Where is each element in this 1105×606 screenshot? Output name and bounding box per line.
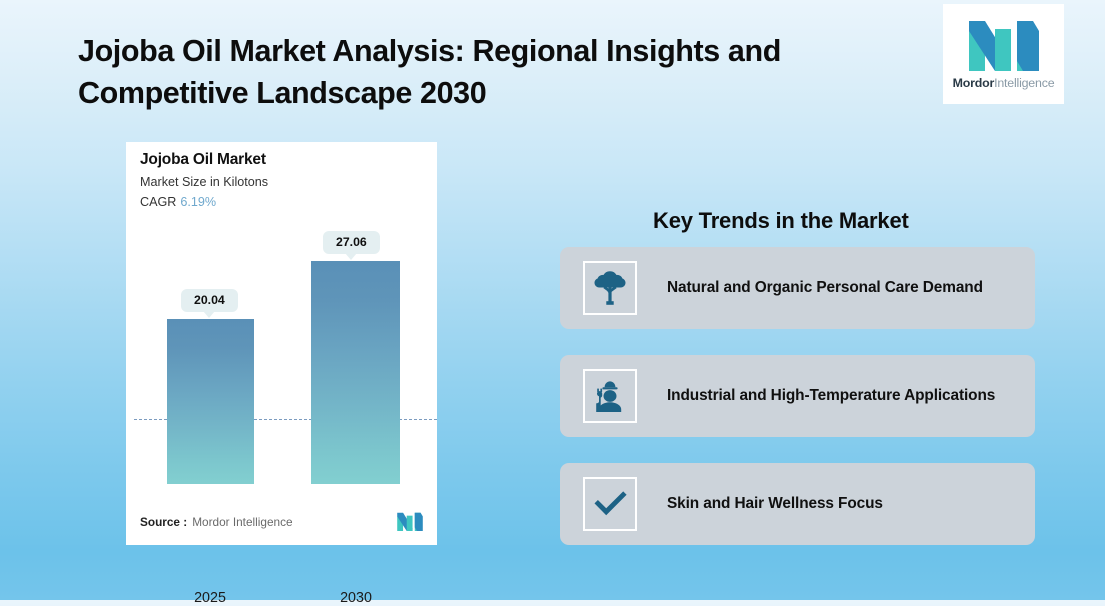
worker-hardhat-icon xyxy=(583,369,637,423)
brand-name-bold: Mordor xyxy=(953,76,994,90)
trend-label-0: Natural and Organic Personal Care Demand xyxy=(667,277,983,299)
page-title: Jojoba Oil Market Analysis: Regional Ins… xyxy=(78,30,908,114)
x-axis-tick-2030: 2030 xyxy=(296,590,416,606)
footer-mordor-intelligence-mi-mark-icon xyxy=(396,512,424,531)
chart-cagr: CAGR6.19% xyxy=(140,195,216,209)
trend-card-industrial-applications[interactable]: Industrial and High-Temperature Applicat… xyxy=(560,355,1035,437)
trend-card-skin-hair-wellness[interactable]: Skin and Hair Wellness Focus xyxy=(560,463,1035,545)
source-value: Mordor Intelligence xyxy=(192,515,292,529)
bar-value-label-2025: 20.04 xyxy=(181,289,238,312)
chart-card: Jojoba Oil Market Market Size in Kiloton… xyxy=(126,142,437,545)
brand-wordmark: MordorIntelligence xyxy=(953,76,1055,90)
trends-heading: Key Trends in the Market xyxy=(653,208,909,234)
bar-2025[interactable] xyxy=(167,319,254,484)
chart-plot-area: 20.04 27.06 2025 2030 xyxy=(126,242,437,484)
brand-logo: MordorIntelligence xyxy=(943,4,1064,104)
trend-label-1: Industrial and High-Temperature Applicat… xyxy=(667,385,995,407)
x-axis-tick-2025: 2025 xyxy=(150,590,270,606)
trend-label-2: Skin and Hair Wellness Focus xyxy=(667,493,883,515)
chart-footer: Source : Mordor Intelligence xyxy=(140,512,424,531)
cagr-label: CAGR xyxy=(140,195,176,209)
mordor-intelligence-mi-mark-icon xyxy=(967,19,1041,71)
bar-value-label-2030: 27.06 xyxy=(323,231,380,254)
source-label: Source : xyxy=(140,515,187,529)
bar-2030[interactable] xyxy=(311,261,400,484)
cagr-value: 6.19% xyxy=(180,195,216,209)
brand-name-light: Intelligence xyxy=(994,76,1054,90)
chart-source: Source : Mordor Intelligence xyxy=(140,515,293,529)
trend-card-natural-organic[interactable]: Natural and Organic Personal Care Demand xyxy=(560,247,1035,329)
tree-icon xyxy=(583,261,637,315)
checkmark-icon xyxy=(583,477,637,531)
chart-title: Jojoba Oil Market xyxy=(140,151,266,169)
chart-subtitle: Market Size in Kilotons xyxy=(140,175,268,189)
